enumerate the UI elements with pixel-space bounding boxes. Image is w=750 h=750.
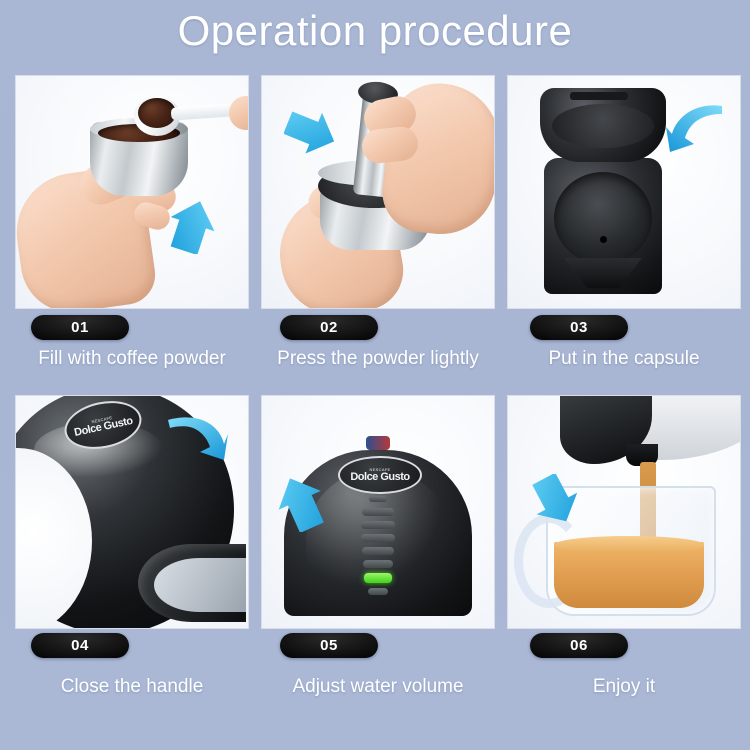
- capsule-holder: [554, 172, 652, 264]
- indicator-bar: [368, 588, 388, 595]
- indicator-bar: [362, 508, 394, 516]
- step-card-01[interactable]: 01 Fill with coffee powder: [16, 76, 248, 308]
- indicator-bar: [363, 560, 393, 568]
- lid-inner: [552, 104, 654, 148]
- blue-arrow-down-right-icon: [284, 108, 338, 158]
- step-caption-02: Press the powder lightly: [262, 348, 494, 370]
- operation-procedure-infographic: Operation procedure: [0, 0, 750, 750]
- steps-row-1: 01 Fill with coffee powder: [16, 76, 734, 396]
- step-badge-04: 04: [31, 633, 129, 658]
- indicator-bar: [362, 547, 394, 555]
- step-photo-03: [508, 76, 740, 308]
- blue-arrow-up-left-icon: [274, 474, 330, 532]
- water-volume-indicator[interactable]: [358, 496, 398, 596]
- step-caption-06: Enjoy it: [508, 676, 740, 698]
- step-badge-05: 05: [280, 633, 378, 658]
- page-title: Operation procedure: [0, 7, 750, 55]
- step-card-04[interactable]: NESCAFE Dolce Gusto: [16, 396, 248, 628]
- step-badge-06: 06: [530, 633, 628, 658]
- blue-arrow-curve-right-icon: [166, 410, 228, 462]
- step-card-05[interactable]: NESCAFE Dolce Gusto: [262, 396, 494, 628]
- steps-grid: 01 Fill with coffee powder: [16, 76, 734, 716]
- step-photo-04: NESCAFE Dolce Gusto: [16, 396, 248, 628]
- step-photo-02: [262, 76, 494, 308]
- step-badge-03: 03: [530, 315, 628, 340]
- blue-arrow-curve-down-icon: [666, 100, 726, 156]
- step-badge-02: 02: [280, 315, 378, 340]
- step-card-03[interactable]: 03 Put in the capsule: [508, 76, 740, 308]
- indicator-bar: [369, 496, 387, 502]
- step-card-06[interactable]: 06 Enjoy it: [508, 396, 740, 628]
- water-tank-cap: [366, 436, 390, 450]
- logo-line2: Dolce Gusto: [350, 472, 409, 483]
- step-badge-01: 01: [31, 315, 129, 340]
- step-caption-01: Fill with coffee powder: [16, 348, 248, 370]
- step-photo-05: NESCAFE Dolce Gusto: [262, 396, 494, 628]
- step-card-02[interactable]: 02 Press the powder lightly: [262, 76, 494, 308]
- holder-pin: [600, 236, 607, 243]
- crema-surface: [554, 536, 704, 554]
- blue-arrow-down-right-icon: [530, 474, 584, 526]
- indicator-bar: [361, 521, 395, 529]
- step-caption-03: Put in the capsule: [508, 348, 740, 370]
- lid-vent: [570, 92, 628, 100]
- dolce-gusto-logo: NESCAFE Dolce Gusto: [338, 456, 422, 494]
- step-caption-05: Adjust water volume: [262, 676, 494, 698]
- step-photo-01: [16, 76, 248, 308]
- handle-gap: [154, 558, 246, 612]
- indicator-bar: [361, 534, 395, 542]
- step-photo-06: [508, 396, 740, 628]
- blue-arrow-up-right-icon: [168, 198, 218, 254]
- indicator-bar-active: [364, 573, 392, 583]
- step-caption-04: Close the handle: [16, 676, 248, 698]
- steps-row-2: NESCAFE Dolce Gusto: [16, 396, 734, 716]
